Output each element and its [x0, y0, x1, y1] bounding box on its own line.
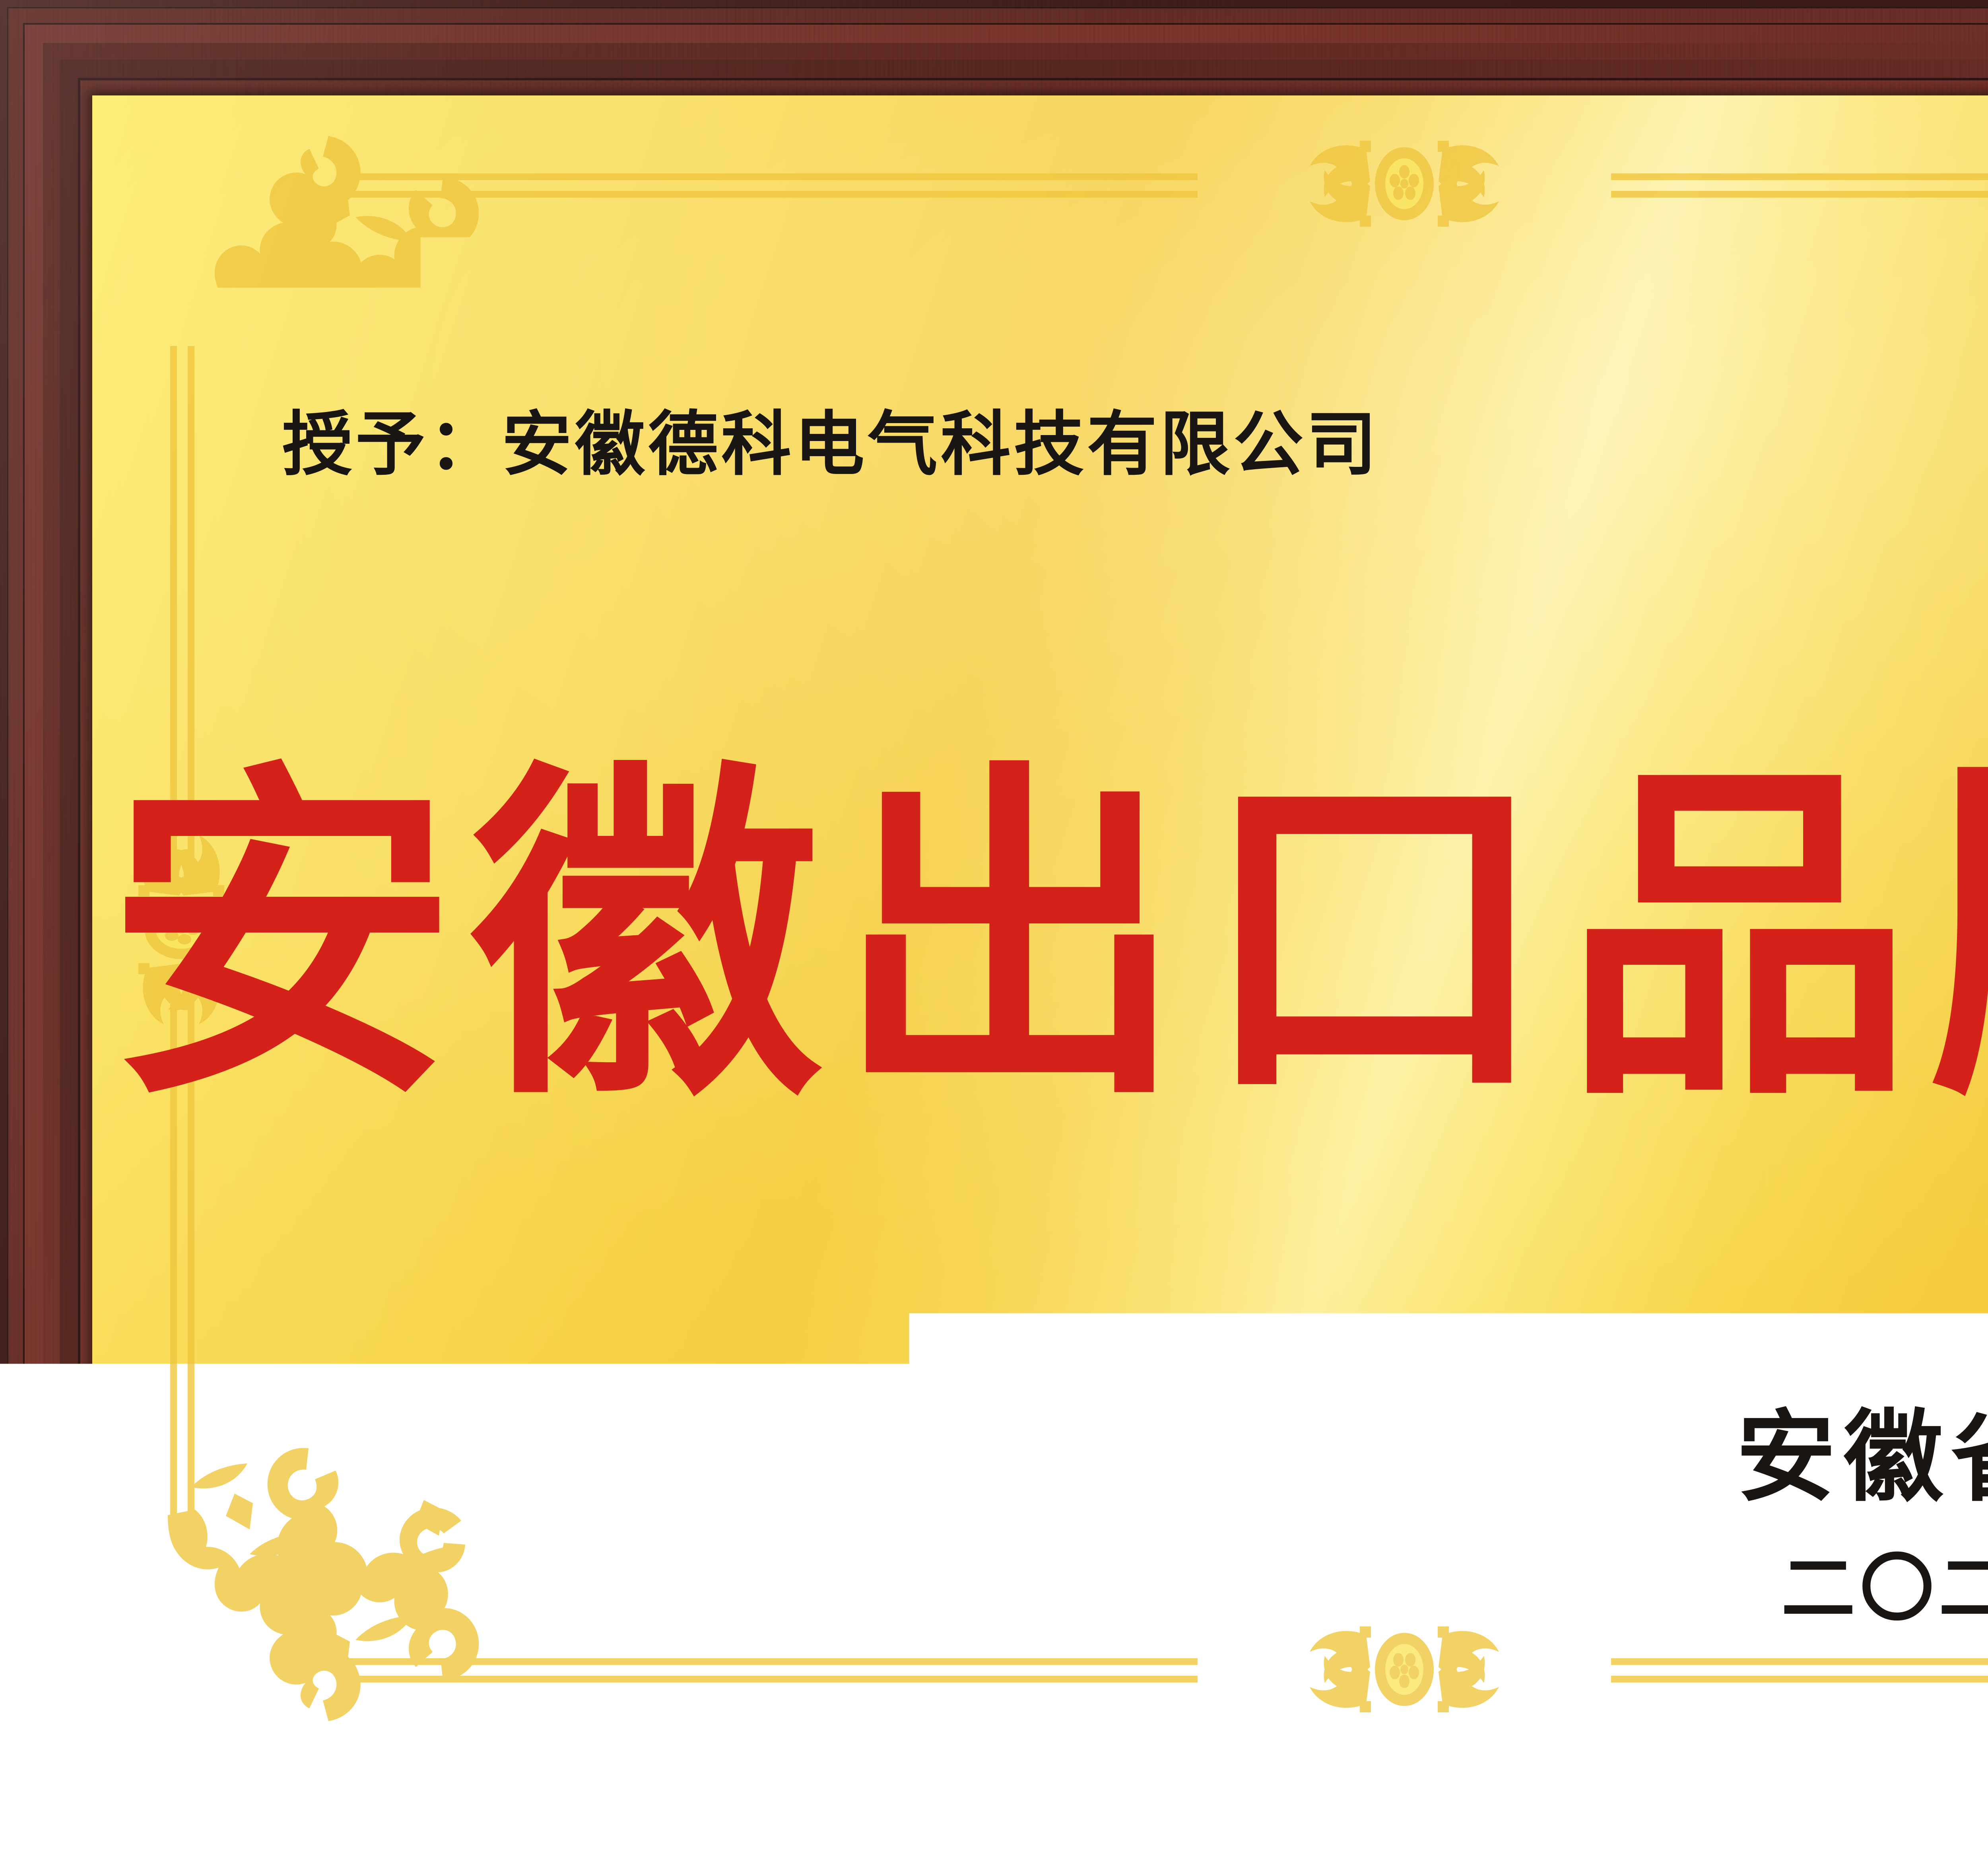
- plate-text-content: 授予：安徽德科电气科技有限公司 安徽出口品牌企业 安徽省商务厅 二〇二二年二月: [92, 95, 1988, 1762]
- award-title: 安徽出口品牌企业: [92, 764, 1988, 1113]
- recipient-line: 授予：安徽德科电气科技有限公司: [282, 410, 1380, 480]
- signature-block: 安徽省商务厅 二〇二二年二月: [1728, 1408, 1988, 1626]
- gold-plate: 授予：安徽德科电气科技有限公司 安徽出口品牌企业 安徽省商务厅 二〇二二年二月: [92, 95, 1988, 1762]
- issuing-authority: 安徽省商务厅: [1728, 1408, 1988, 1507]
- award-plaque: 授予：安徽德科电气科技有限公司 安徽出口品牌企业 安徽省商务厅 二〇二二年二月: [0, 0, 1988, 1873]
- issue-date: 二〇二二年二月: [1728, 1552, 1988, 1626]
